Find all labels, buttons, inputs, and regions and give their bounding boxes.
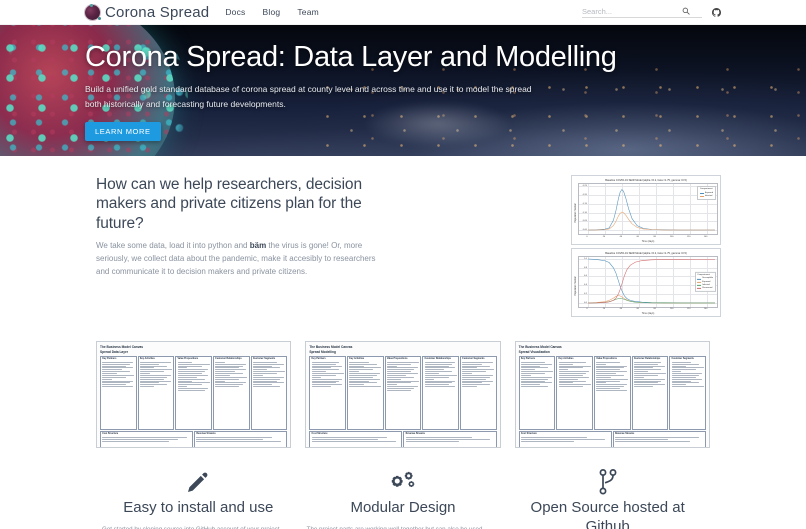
code-branch-icon: [511, 467, 704, 497]
text-line: [178, 364, 210, 365]
text-line: [387, 381, 419, 382]
text-line: [312, 371, 327, 372]
text-line: [521, 384, 540, 385]
business-model-canvas-1[interactable]: The Business Model CanvasSpread Data Lay…: [96, 341, 291, 448]
x-axis-tick-label: 120: [687, 236, 691, 238]
text-line: [215, 377, 247, 378]
text-line: [672, 364, 699, 365]
canvas-cell[interactable]: Key Partners: [309, 356, 346, 430]
text-lines: [406, 437, 495, 441]
canvas-cell-header: Key Partners: [102, 358, 134, 361]
text-line: [559, 373, 586, 374]
text-line: [215, 373, 242, 374]
chart-card-2[interactable]: Baseline COVID-19 SEIR Model (alpha =0.2…: [571, 248, 721, 318]
text-line: [521, 362, 545, 363]
github-icon[interactable]: [712, 8, 721, 17]
x-axis-tick-label: 140: [704, 308, 708, 310]
text-line: [462, 364, 481, 365]
text-line: [140, 382, 159, 383]
text-line: [178, 377, 197, 378]
x-axis-tick-label: 100: [670, 236, 674, 238]
text-lines: [140, 362, 172, 387]
text-line: [596, 388, 620, 389]
text-line: [425, 367, 456, 368]
text-line: [178, 366, 202, 367]
text-line: [387, 366, 397, 367]
text-line: [312, 366, 343, 367]
text-line: [634, 381, 661, 382]
canvas-cell-header: Value Propositions: [178, 358, 210, 361]
canvas-cell[interactable]: Key Partners: [100, 356, 137, 430]
legend-swatch: [700, 196, 704, 197]
text-line: [387, 371, 411, 372]
series-line-exposed: [588, 190, 715, 230]
text-line: [140, 362, 171, 363]
text-line: [521, 375, 531, 376]
intro-heading: How can we help researchers, decision ma…: [96, 175, 384, 233]
canvas-subtitle: Spread Modelling: [309, 350, 496, 354]
canvas-cell[interactable]: Key Activities: [138, 356, 175, 430]
text-line: [425, 386, 456, 387]
text-line: [634, 366, 665, 367]
text-line: [559, 371, 590, 372]
canvas-bottom-row: Cost StructureRevenue Streams: [519, 431, 706, 448]
text-line: [215, 375, 230, 376]
text-line: [462, 362, 493, 363]
text-line: [559, 367, 583, 368]
text-line: [253, 364, 284, 365]
text-line: [102, 441, 169, 442]
text-line: [178, 384, 202, 385]
text-line: [102, 371, 129, 372]
text-line: [634, 379, 665, 380]
text-line: [349, 369, 373, 370]
text-line: [521, 382, 552, 383]
feature-title-2: Modular Design: [307, 499, 500, 517]
text-line: [521, 377, 552, 378]
text-line: [425, 364, 452, 365]
text-line: [406, 437, 473, 438]
hero-subtitle: Build a unified gold standard database o…: [85, 82, 540, 112]
text-line: [312, 373, 344, 374]
pencil-icon: [102, 467, 295, 497]
text-line: [312, 379, 343, 380]
text-line: [596, 377, 611, 378]
canvas-bottom-row: Cost StructureRevenue Streams: [309, 431, 496, 448]
search-box[interactable]: [582, 7, 702, 18]
text-line: [559, 375, 583, 376]
text-line: [425, 371, 452, 372]
text-line: [387, 382, 411, 383]
text-line: [672, 373, 703, 374]
canvas-cell-header: Key Partners: [521, 358, 553, 361]
text-line: [253, 367, 280, 368]
text-line: [559, 384, 591, 385]
text-line: [672, 381, 691, 382]
text-line: [215, 371, 234, 372]
charts-column: Baseline COVID-19 SEIR Model (alpha =0.2…: [571, 175, 721, 320]
canvas-cell[interactable]: Key Partners: [519, 356, 556, 430]
text-line: [634, 367, 653, 368]
text-line: [349, 386, 381, 387]
x-axis-tick-label: 0: [586, 236, 587, 238]
legend-item: Recovered: [697, 287, 713, 290]
text-line: [178, 386, 188, 387]
text-line: [387, 369, 414, 370]
text-line: [387, 373, 418, 374]
cogs-icon: [307, 467, 500, 497]
text-line: [596, 373, 615, 374]
text-line: [102, 375, 134, 376]
text-line: [102, 437, 186, 438]
brand-link[interactable]: Corona Spread: [85, 4, 209, 21]
text-line: [634, 362, 661, 363]
canvas-cell[interactable]: Cost Structure: [100, 431, 193, 448]
business-model-canvas-2[interactable]: The Business Model CanvasSpread Modellin…: [305, 341, 500, 448]
text-line: [387, 375, 406, 376]
legend-swatch: [700, 193, 704, 194]
search-input[interactable]: [582, 7, 682, 16]
text-line: [196, 441, 280, 442]
text-line: [140, 379, 164, 380]
text-line: [596, 390, 627, 391]
canvas-cell-header: Customer Segments: [253, 358, 285, 361]
text-line: [312, 439, 379, 440]
text-line: [634, 364, 658, 365]
text-line: [559, 381, 586, 382]
text-line: [634, 375, 658, 376]
text-line: [521, 364, 552, 365]
text-line: [102, 381, 133, 382]
chart-legend: CompartmentSusceptibleExposedInfectedRec…: [695, 272, 716, 292]
text-line: [521, 366, 540, 367]
text-lines: [462, 362, 494, 387]
text-line: [102, 384, 126, 385]
text-lines: [425, 362, 457, 387]
nav-link-docs[interactable]: Docs: [223, 5, 247, 19]
text-lines: [349, 362, 381, 387]
x-axis-tick-label: 80: [654, 236, 656, 238]
text-line: [387, 384, 397, 385]
text-line: [253, 377, 284, 378]
legend-item: Infected: [700, 195, 713, 198]
canvas-subtitle: Spread Visualization: [519, 350, 706, 354]
text-line: [462, 369, 494, 370]
text-line: [312, 381, 339, 382]
text-line: [140, 386, 155, 387]
text-line: [349, 375, 376, 376]
text-line: [178, 362, 193, 363]
text-line: [312, 437, 387, 438]
text-line: [672, 386, 704, 387]
text-line: [312, 384, 343, 385]
text-line: [312, 362, 339, 363]
text-line: [253, 381, 277, 382]
feature-desc-1: Get started by cloning source into GitHu…: [102, 525, 295, 529]
text-lines: [634, 362, 666, 387]
text-line: [672, 369, 696, 370]
text-line: [215, 367, 239, 368]
text-line: [215, 384, 242, 385]
text-line: [312, 441, 396, 442]
text-line: [615, 441, 690, 442]
text-line: [178, 373, 202, 374]
text-line: [462, 371, 486, 372]
x-axis-tick-label: 20: [603, 236, 605, 238]
canvas-cell-header: Key Partners: [312, 358, 344, 361]
brand-name: Corona Spread: [105, 4, 209, 21]
canvas-cell[interactable]: Revenue Streams: [403, 431, 496, 448]
feature-modular-design: Modular Design The project parts are wor…: [301, 467, 506, 529]
navbar: Corona Spread Docs Blog Team: [0, 0, 806, 25]
canvas-cell[interactable]: Customer Segments: [251, 356, 288, 430]
text-lines: [253, 362, 285, 387]
text-line: [102, 364, 129, 365]
text-line: [521, 441, 574, 442]
canvas-grid: Key PartnersKey ActivitiesValue Proposit…: [100, 356, 287, 430]
feature-desc-2: The project parts are working well toget…: [307, 525, 500, 529]
text-line: [349, 364, 376, 365]
text-line: [387, 388, 414, 389]
text-line: [253, 369, 268, 370]
search-icon[interactable]: [682, 7, 690, 15]
chart-1-title: Baseline COVID-19 SEIR Model (alpha =0.2…: [574, 179, 718, 182]
text-line: [349, 381, 368, 382]
text-line: [253, 366, 272, 367]
text-line: [634, 382, 658, 383]
text-line: [462, 366, 489, 367]
canvas-cell-header: Value Propositions: [387, 358, 419, 361]
text-lines: [196, 437, 285, 441]
text-line: [349, 362, 368, 363]
text-line: [596, 379, 628, 380]
text-line: [559, 379, 578, 380]
intro-body-part1: We take some data, load it into python a…: [96, 241, 250, 250]
text-line: [140, 381, 171, 382]
text-line: [406, 441, 459, 442]
text-line: [178, 390, 205, 391]
text-line: [196, 437, 271, 438]
canvas-cell[interactable]: Revenue Streams: [613, 431, 706, 448]
canvas-grid: Key PartnersKey ActivitiesValue Proposit…: [309, 356, 496, 430]
text-line: [521, 439, 605, 440]
text-lines: [521, 437, 610, 441]
chart-legend: CompartmentExposedInfected: [697, 186, 715, 200]
canvas-cell-header: Cost Structure: [102, 433, 191, 436]
learn-more-button[interactable]: LEARN MORE: [85, 122, 161, 141]
text-lines: [178, 362, 210, 391]
text-line: [559, 377, 590, 378]
text-line: [178, 369, 209, 370]
canvas-cell[interactable]: Cost Structure: [309, 431, 402, 448]
intro-body: We take some data, load it into python a…: [96, 240, 384, 279]
text-line: [178, 371, 205, 372]
text-line: [462, 377, 489, 378]
text-line: [140, 366, 167, 367]
text-line: [559, 366, 591, 367]
legend-swatch: [697, 288, 701, 289]
text-line: [462, 384, 489, 385]
text-line: [215, 366, 242, 367]
text-line: [140, 375, 171, 376]
text-line: [178, 375, 209, 376]
x-axis-tick-label: 20: [603, 308, 605, 310]
text-line: [349, 373, 380, 374]
text-line: [596, 366, 627, 367]
chart-2-ylabel: Population fraction: [574, 276, 577, 296]
canvas-cell[interactable]: Customer Relationships: [422, 356, 459, 430]
text-line: [615, 437, 699, 438]
text-line: [102, 382, 129, 383]
text-line: [559, 362, 586, 363]
text-line: [521, 373, 545, 374]
text-line: [102, 369, 121, 370]
text-line: [349, 371, 359, 372]
canvas-subtitle: Spread Data Layer: [100, 350, 287, 354]
canvas-cell[interactable]: Key Activities: [556, 356, 593, 430]
text-line: [521, 381, 545, 382]
legend-label: Infected: [705, 195, 712, 198]
canvas-cell[interactable]: Key Activities: [347, 356, 384, 430]
text-line: [312, 364, 336, 365]
x-axis-tick-label: 100: [670, 308, 674, 310]
text-line: [349, 367, 381, 368]
text-line: [387, 377, 414, 378]
text-line: [462, 375, 493, 376]
text-line: [672, 384, 687, 385]
chart-2-xticks: 020406080100120140: [578, 308, 718, 313]
text-lines: [387, 362, 419, 391]
text-line: [559, 364, 574, 365]
canvas-cell-header: Value Propositions: [596, 358, 628, 361]
text-line: [102, 362, 133, 363]
text-line: [102, 366, 126, 367]
text-line: [387, 390, 411, 391]
text-lines: [615, 437, 704, 441]
text-line: [215, 362, 225, 363]
text-line: [140, 364, 159, 365]
text-lines: [596, 362, 628, 391]
text-line: [596, 375, 623, 376]
canvas-cell[interactable]: Value Propositions: [594, 356, 631, 430]
canvas-cell[interactable]: Revenue Streams: [194, 431, 287, 448]
text-line: [672, 367, 704, 368]
canvas-cell-header: Customer Relationships: [634, 358, 666, 361]
canvas-cell[interactable]: Customer Segments: [669, 356, 706, 430]
text-line: [140, 367, 155, 368]
text-line: [596, 386, 623, 387]
canvas-cell-header: Key Activities: [140, 358, 172, 361]
text-lines: [312, 362, 344, 387]
text-line: [634, 377, 644, 378]
text-line: [349, 382, 376, 383]
text-line: [596, 382, 606, 383]
text-line: [672, 362, 691, 363]
text-lines: [672, 362, 704, 387]
text-line: [425, 366, 449, 367]
text-line: [425, 369, 444, 370]
x-axis-tick-label: 60: [637, 308, 639, 310]
feature-open-source: Open Source hosted at Github Using the p…: [505, 467, 710, 529]
text-line: [215, 369, 246, 370]
feature-title-3: Open Source hosted at Github: [511, 499, 704, 529]
text-line: [559, 382, 574, 383]
canvas-cell[interactable]: Cost Structure: [519, 431, 612, 448]
text-lines: [102, 437, 191, 441]
canvas-cell[interactable]: Value Propositions: [175, 356, 212, 430]
text-line: [425, 375, 457, 376]
text-line: [102, 367, 133, 368]
text-line: [178, 381, 193, 382]
text-line: [462, 386, 477, 387]
canvas-cell[interactable]: Customer Segments: [460, 356, 497, 430]
text-line: [349, 379, 380, 380]
x-axis-tick-label: 0: [586, 308, 587, 310]
x-axis-tick-label: 80: [654, 308, 656, 310]
text-line: [521, 371, 553, 372]
text-line: [196, 439, 263, 440]
main-content: How can we help researchers, decision ma…: [85, 156, 721, 529]
text-line: [425, 382, 452, 383]
text-line: [178, 367, 188, 368]
text-line: [462, 381, 493, 382]
text-line: [462, 379, 486, 380]
text-line: [596, 381, 620, 382]
legend-swatch: [697, 282, 701, 283]
nav-links: Docs Blog Team: [223, 5, 321, 19]
canvas-cell[interactable]: Customer Relationships: [213, 356, 250, 430]
feature-title-1: Easy to install and use: [102, 499, 295, 517]
text-line: [178, 382, 210, 383]
nav-link-blog[interactable]: Blog: [261, 5, 283, 19]
legend-swatch: [697, 285, 701, 286]
text-line: [596, 371, 627, 372]
text-line: [102, 379, 112, 380]
text-line: [215, 386, 239, 387]
text-line: [521, 367, 548, 368]
text-line: [672, 371, 682, 372]
text-line: [425, 381, 456, 382]
canvas-cell[interactable]: Customer Relationships: [632, 356, 669, 430]
text-line: [425, 373, 440, 374]
canvas-cell[interactable]: Value Propositions: [385, 356, 422, 430]
canvas-bottom-row: Cost StructureRevenue Streams: [100, 431, 287, 448]
text-line: [349, 366, 364, 367]
feature-easy-install: Easy to install and use Get started by c…: [96, 467, 301, 529]
text-line: [140, 377, 167, 378]
canvas-cell-header: Key Activities: [559, 358, 591, 361]
text-lines: [521, 362, 553, 387]
text-line: [672, 375, 699, 376]
chart-1-ylabel: Population fraction: [574, 203, 577, 223]
text-line: [634, 384, 665, 385]
business-model-canvas-3[interactable]: The Business Model CanvasSpread Visualiz…: [515, 341, 710, 448]
text-line: [425, 379, 435, 380]
chart-1-plot: 0.000.050.100.150.200.25CompartmentExpos…: [578, 183, 718, 235]
chart-card-1[interactable]: Baseline COVID-19 SEIR Model (alpha =0.2…: [571, 175, 721, 245]
virus-logo-icon: [85, 5, 100, 20]
text-line: [615, 439, 668, 440]
nav-link-team[interactable]: Team: [295, 5, 321, 19]
text-line: [140, 369, 172, 370]
text-line: [387, 386, 418, 387]
series-line-infected: [588, 212, 715, 230]
text-line: [102, 386, 133, 387]
text-line: [178, 379, 205, 380]
text-line: [521, 379, 548, 380]
canvas-cell-header: Customer Relationships: [215, 358, 247, 361]
text-line: [178, 388, 209, 389]
